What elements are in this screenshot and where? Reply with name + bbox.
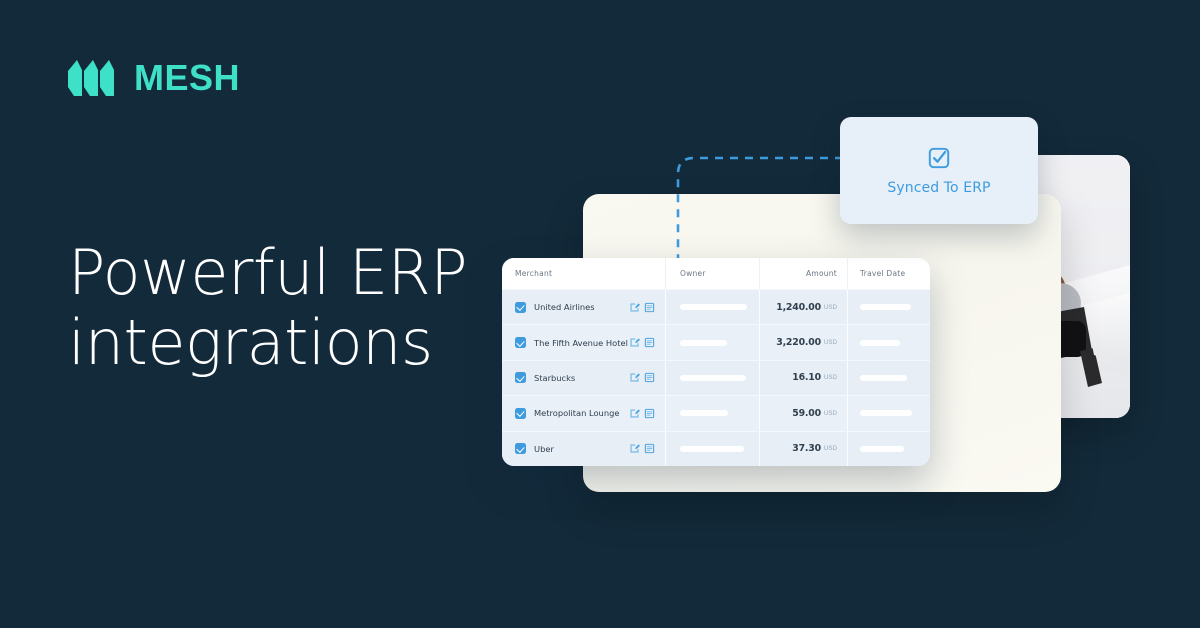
owner-placeholder-bar bbox=[680, 340, 727, 346]
hero-composition: MESH Powerful ERP integrations bbox=[0, 0, 1200, 628]
amount-value: 59.00 bbox=[792, 408, 821, 419]
cell-owner bbox=[665, 361, 759, 395]
cell-travel-date bbox=[847, 325, 930, 359]
merchant-name: Uber bbox=[534, 444, 554, 454]
cell-owner bbox=[665, 325, 759, 359]
receipt-list-icon[interactable] bbox=[644, 302, 655, 313]
checkbox-check-icon bbox=[926, 145, 952, 171]
edit-document-icon[interactable] bbox=[629, 302, 640, 313]
owner-placeholder-bar bbox=[680, 304, 747, 310]
column-header-amount: Amount bbox=[759, 258, 847, 289]
owner-placeholder-bar bbox=[680, 375, 746, 381]
edit-document-icon[interactable] bbox=[629, 408, 640, 419]
cell-merchant: Starbucks bbox=[502, 372, 665, 383]
amount-currency: USD bbox=[824, 445, 837, 452]
row-actions bbox=[629, 443, 655, 454]
amount-value: 3,220.00 bbox=[776, 337, 821, 348]
amount-value: 16.10 bbox=[792, 372, 821, 383]
synced-to-erp-label: Synced To ERP bbox=[887, 180, 990, 196]
row-checkbox[interactable] bbox=[515, 302, 526, 313]
row-actions bbox=[629, 372, 655, 383]
receipt-list-icon[interactable] bbox=[644, 408, 655, 419]
table-row[interactable]: United Airlines 1,240.00 USD bbox=[502, 289, 930, 324]
column-header-owner: Owner bbox=[665, 258, 759, 289]
cell-merchant: Metropolitan Lounge bbox=[502, 408, 665, 419]
row-checkbox[interactable] bbox=[515, 337, 526, 348]
travel-date-placeholder-bar bbox=[860, 375, 907, 381]
travel-date-placeholder-bar bbox=[860, 410, 912, 416]
cell-amount: 37.30 USD bbox=[759, 432, 847, 466]
cell-travel-date bbox=[847, 396, 930, 430]
receipt-list-icon[interactable] bbox=[644, 372, 655, 383]
amount-value: 1,240.00 bbox=[776, 302, 821, 313]
row-checkbox[interactable] bbox=[515, 372, 526, 383]
cell-owner bbox=[665, 290, 759, 324]
row-checkbox[interactable] bbox=[515, 408, 526, 419]
travel-date-placeholder-bar bbox=[860, 340, 900, 346]
cell-amount: 1,240.00 USD bbox=[759, 290, 847, 324]
cell-merchant: Uber bbox=[502, 443, 665, 454]
table-header-row: Merchant Owner Amount Travel Date bbox=[502, 258, 930, 289]
cell-travel-date bbox=[847, 361, 930, 395]
cell-amount: 3,220.00 USD bbox=[759, 325, 847, 359]
cell-travel-date bbox=[847, 432, 930, 466]
cell-amount: 16.10 USD bbox=[759, 361, 847, 395]
brand-wordmark: MESH bbox=[134, 60, 240, 96]
travel-date-placeholder-bar bbox=[860, 304, 911, 310]
row-actions bbox=[629, 337, 655, 348]
mesh-logo-mark-icon bbox=[66, 58, 120, 98]
merchant-name: The Fifth Avenue Hotel bbox=[534, 338, 628, 348]
merchant-name: United Airlines bbox=[534, 302, 595, 312]
table-row[interactable]: Starbucks 16.10 USD bbox=[502, 360, 930, 395]
owner-placeholder-bar bbox=[680, 446, 744, 452]
amount-currency: USD bbox=[824, 304, 837, 311]
amount-currency: USD bbox=[824, 374, 837, 381]
cell-merchant: The Fifth Avenue Hotel bbox=[502, 337, 665, 348]
headline-line-2: integrations bbox=[68, 308, 538, 378]
table-row[interactable]: Metropolitan Lounge 59.00 USD bbox=[502, 395, 930, 430]
cell-owner bbox=[665, 396, 759, 430]
cell-travel-date bbox=[847, 290, 930, 324]
expenses-table-card: Merchant Owner Amount Travel Date United… bbox=[502, 258, 930, 466]
receipt-list-icon[interactable] bbox=[644, 443, 655, 454]
merchant-name: Starbucks bbox=[534, 373, 575, 383]
amount-value: 37.30 bbox=[792, 443, 821, 454]
row-actions bbox=[629, 302, 655, 313]
owner-placeholder-bar bbox=[680, 410, 728, 416]
page-title: Powerful ERP integrations bbox=[68, 238, 538, 378]
edit-document-icon[interactable] bbox=[629, 337, 640, 348]
brand-logo: MESH bbox=[66, 58, 240, 98]
cell-merchant: United Airlines bbox=[502, 302, 665, 313]
row-actions bbox=[629, 408, 655, 419]
edit-document-icon[interactable] bbox=[629, 443, 640, 454]
row-checkbox[interactable] bbox=[515, 443, 526, 454]
amount-currency: USD bbox=[824, 410, 837, 417]
table-row[interactable]: Uber 37.30 USD bbox=[502, 431, 930, 466]
cell-owner bbox=[665, 432, 759, 466]
synced-to-erp-card: Synced To ERP bbox=[840, 117, 1038, 224]
edit-document-icon[interactable] bbox=[629, 372, 640, 383]
column-header-merchant: Merchant bbox=[502, 269, 665, 278]
column-header-travel-date: Travel Date bbox=[847, 258, 930, 289]
merchant-name: Metropolitan Lounge bbox=[534, 408, 619, 418]
amount-currency: USD bbox=[824, 339, 837, 346]
headline-line-1: Powerful ERP bbox=[68, 238, 538, 308]
travel-date-placeholder-bar bbox=[860, 446, 904, 452]
table-row[interactable]: The Fifth Avenue Hotel 3,220.00 USD bbox=[502, 324, 930, 359]
cell-amount: 59.00 USD bbox=[759, 396, 847, 430]
receipt-list-icon[interactable] bbox=[644, 337, 655, 348]
